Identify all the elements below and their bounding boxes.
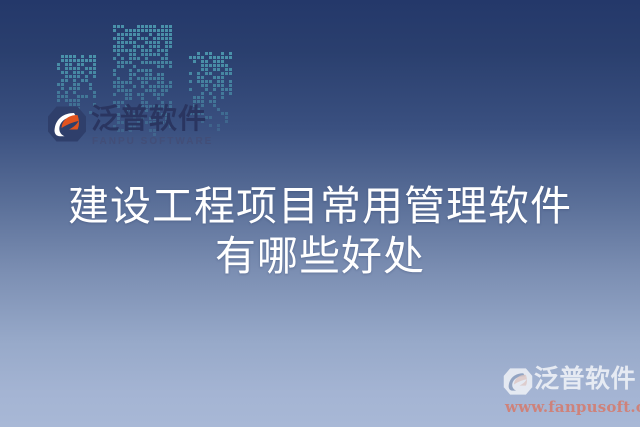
fanpu-logo-mark-icon (47, 106, 87, 142)
fanpu-watermark-mark-icon (503, 368, 533, 395)
page-title-line-2: 有哪些好处 (0, 231, 640, 281)
pixel-buildings-decoration (57, 0, 177, 110)
watermark: 泛普软件 www.fanpusoft.com (497, 365, 640, 423)
watermark-brand-name: 泛普软件 (534, 364, 636, 394)
page-title-line-1: 建设工程项目常用管理软件 (0, 181, 640, 231)
page-title: 建设工程项目常用管理软件 有哪些好处 (0, 181, 640, 281)
brand-logo: 泛普软件 FANPU SOFTWARE (47, 103, 207, 155)
brand-name-cn: 泛普软件 (91, 103, 207, 135)
watermark-url: www.fanpusoft.com (505, 398, 640, 416)
poster-canvas: 泛普软件 FANPU SOFTWARE 建设工程项目常用管理软件 有哪些好处 泛… (0, 0, 640, 427)
brand-name-en: FANPU SOFTWARE (92, 136, 213, 147)
